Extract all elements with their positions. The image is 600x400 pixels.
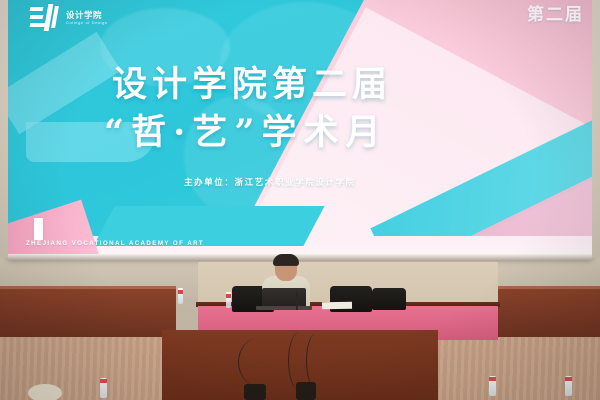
logo-name-cn: 设计学院 [66,11,108,20]
banner-footer-mark [34,218,43,240]
banner-title-line1: 设计学院第二届 [112,56,392,107]
water-bottle-side-desk [178,288,183,304]
floor-bottle-left [100,378,107,398]
wall-edge-left [0,0,8,258]
laptop [262,288,306,308]
desk-microphone [296,292,298,310]
cable-left [238,338,279,386]
logo-text: 设计学院 College of Design [66,11,108,26]
floor-bag [244,384,266,400]
floor-round-object [28,384,62,400]
cable-right [306,334,325,388]
glasses-icon [276,265,296,271]
water-bottle-table [226,292,231,308]
side-desk-left [0,286,176,337]
wall-edge-right [592,0,600,258]
logo-name-en: College of Design [66,21,108,25]
documents [322,302,352,310]
college-logo: 设计学院 College of Design [30,4,108,32]
side-desk-right [498,286,600,337]
floor-equipment [296,382,316,400]
banner-corner-text: 第二届 [527,6,584,26]
floor-bottle-right-1 [489,376,496,396]
banner-organizer: 主办单位：浙江艺术职业学院设计学院 [184,176,356,188]
floor-bottle-right-2 [565,376,572,396]
banner-footer-en: ZHEJIANG VOCATIONAL ACADEMY OF ART [26,240,204,247]
zhe-character-logo-icon [30,4,60,32]
conference-hall-photo: 设计学院 College of Design 第二届 设计学院第二届 “哲·艺”… [0,0,600,400]
projection-screen-banner: 设计学院 College of Design 第二届 设计学院第二届 “哲·艺”… [8,0,592,258]
laptop-base [256,306,312,310]
chair-far-right [372,288,406,310]
banner-title-line2: “哲·艺”学术月 [104,104,387,155]
